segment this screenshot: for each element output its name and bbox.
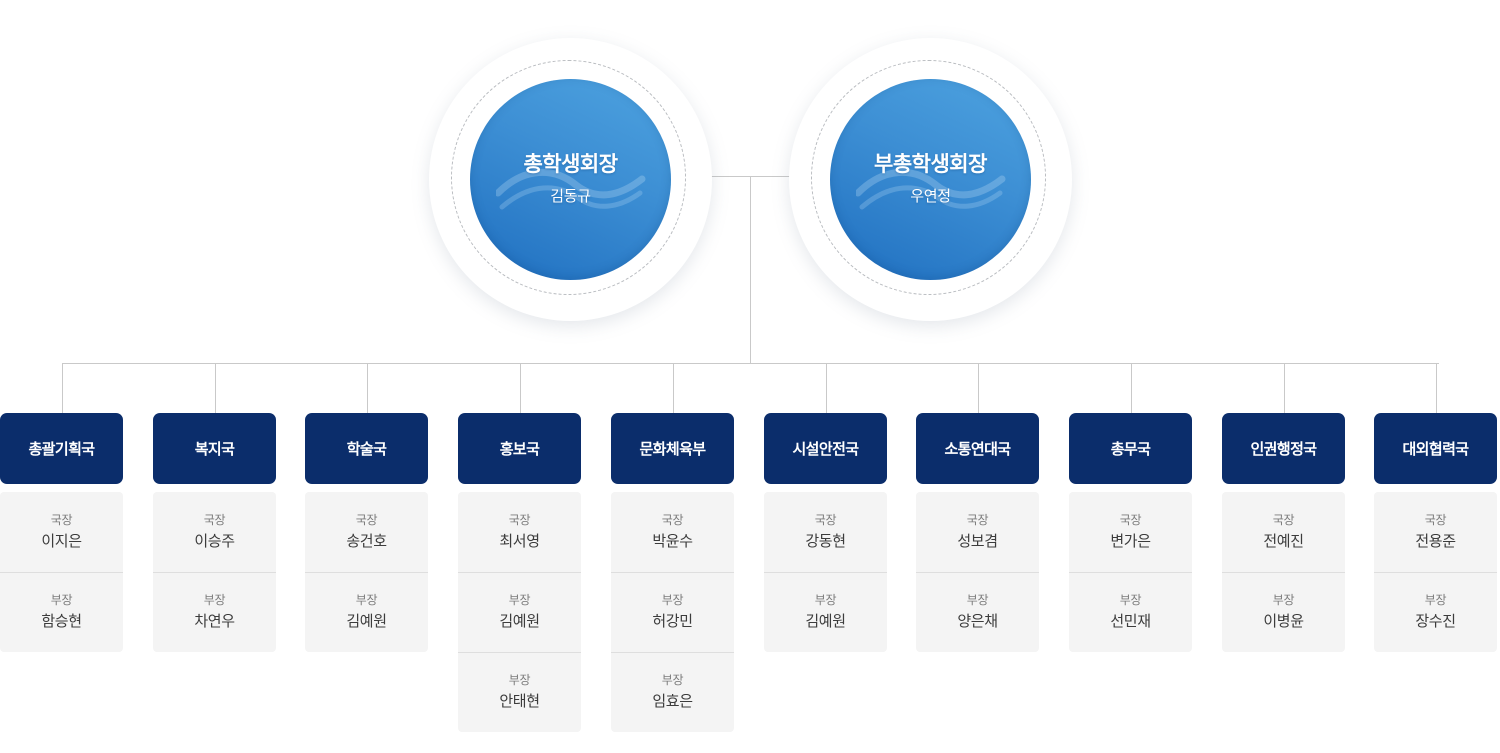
leader-name-label: 김동규 xyxy=(550,189,591,206)
department-member: 국장전용준 xyxy=(1374,492,1497,572)
member-role-label: 국장 xyxy=(51,514,72,527)
member-name-label: 강동현 xyxy=(805,534,845,551)
organization-chart: 총학생회장 김동규 부총학생회장 우연정 총괄기획국국장이지은부장함승현복지국국… xyxy=(0,0,1500,753)
department-header[interactable]: 문화체육부 xyxy=(611,413,734,484)
member-name-label: 김예원 xyxy=(346,614,386,631)
department-header[interactable]: 인권행정국 xyxy=(1222,413,1345,484)
department-member: 국장송건호 xyxy=(305,492,428,572)
department-header[interactable]: 소통연대국 xyxy=(916,413,1039,484)
connector-stub xyxy=(1436,363,1437,413)
connector-stub xyxy=(62,363,63,413)
member-role-label: 부장 xyxy=(662,594,683,607)
member-name-label: 변가은 xyxy=(1110,534,1150,551)
department-column: 소통연대국국장성보겸부장양은채 xyxy=(916,413,1039,652)
department-member: 부장이병윤 xyxy=(1222,572,1345,652)
member-role-label: 부장 xyxy=(356,594,377,607)
department-column: 문화체육부국장박윤수부장허강민부장임효은 xyxy=(611,413,734,732)
member-name-label: 이병윤 xyxy=(1263,614,1303,631)
leader-card-vice-president[interactable]: 부총학생회장 우연정 xyxy=(789,38,1072,321)
leader-card-president[interactable]: 총학생회장 김동규 xyxy=(429,38,712,321)
member-role-label: 부장 xyxy=(51,594,72,607)
department-column: 복지국국장이승주부장차연우 xyxy=(153,413,276,652)
connector-distribution-bus xyxy=(62,363,1439,364)
department-member: 부장김예원 xyxy=(305,572,428,652)
department-member-list: 국장변가은부장선민재 xyxy=(1069,492,1192,652)
member-name-label: 임효은 xyxy=(652,694,692,711)
member-name-label: 김예원 xyxy=(499,614,539,631)
department-member: 부장허강민 xyxy=(611,572,734,652)
member-role-label: 부장 xyxy=(967,594,988,607)
department-header[interactable]: 총무국 xyxy=(1069,413,1192,484)
member-name-label: 이승주 xyxy=(194,534,234,551)
department-member: 국장박윤수 xyxy=(611,492,734,572)
department-member: 부장임효은 xyxy=(611,652,734,732)
connector-stub xyxy=(978,363,979,413)
member-name-label: 김예원 xyxy=(805,614,845,631)
connector-stub xyxy=(215,363,216,413)
member-role-label: 국장 xyxy=(1425,514,1446,527)
member-role-label: 국장 xyxy=(1120,514,1141,527)
member-role-label: 부장 xyxy=(509,594,530,607)
department-member: 부장안태현 xyxy=(458,652,581,732)
department-member: 국장변가은 xyxy=(1069,492,1192,572)
department-member: 국장전예진 xyxy=(1222,492,1345,572)
department-member-list: 국장이지은부장함승현 xyxy=(0,492,123,652)
department-member-list: 국장박윤수부장허강민부장임효은 xyxy=(611,492,734,732)
member-name-label: 함승현 xyxy=(41,614,81,631)
department-header[interactable]: 총괄기획국 xyxy=(0,413,123,484)
department-member: 부장선민재 xyxy=(1069,572,1192,652)
member-role-label: 국장 xyxy=(967,514,988,527)
department-member: 부장김예원 xyxy=(764,572,887,652)
departments-row: 총괄기획국국장이지은부장함승현복지국국장이승주부장차연우학술국국장송건호부장김예… xyxy=(0,413,1500,753)
connector-stub xyxy=(367,363,368,413)
member-role-label: 국장 xyxy=(1273,514,1294,527)
member-name-label: 안태현 xyxy=(499,694,539,711)
department-header[interactable]: 복지국 xyxy=(153,413,276,484)
leader-name-label: 우연정 xyxy=(910,189,951,206)
leader-disc: 총학생회장 김동규 xyxy=(470,79,671,280)
member-role-label: 부장 xyxy=(204,594,225,607)
department-column: 대외협력국국장전용준부장장수진 xyxy=(1374,413,1497,652)
leaders-row: 총학생회장 김동규 부총학생회장 우연정 xyxy=(0,0,1500,300)
department-member: 국장최서영 xyxy=(458,492,581,572)
department-member-list: 국장성보겸부장양은채 xyxy=(916,492,1039,652)
member-role-label: 부장 xyxy=(1120,594,1141,607)
member-role-label: 부장 xyxy=(1425,594,1446,607)
member-name-label: 최서영 xyxy=(499,534,539,551)
member-name-label: 박윤수 xyxy=(652,534,692,551)
department-column: 학술국국장송건호부장김예원 xyxy=(305,413,428,652)
department-header[interactable]: 대외협력국 xyxy=(1374,413,1497,484)
department-header[interactable]: 시설안전국 xyxy=(764,413,887,484)
department-member: 부장차연우 xyxy=(153,572,276,652)
member-role-label: 국장 xyxy=(204,514,225,527)
department-member: 국장이승주 xyxy=(153,492,276,572)
department-member: 부장김예원 xyxy=(458,572,581,652)
member-name-label: 장수진 xyxy=(1415,614,1455,631)
member-role-label: 부장 xyxy=(662,674,683,687)
member-role-label: 국장 xyxy=(662,514,683,527)
connector-stub xyxy=(520,363,521,413)
leader-role-label: 부총학생회장 xyxy=(874,153,987,176)
leader-disc: 부총학생회장 우연정 xyxy=(830,79,1031,280)
connector-stub xyxy=(1284,363,1285,413)
member-name-label: 허강민 xyxy=(652,614,692,631)
member-role-label: 국장 xyxy=(815,514,836,527)
member-name-label: 이지은 xyxy=(41,534,81,551)
member-role-label: 부장 xyxy=(1273,594,1294,607)
department-header[interactable]: 홍보국 xyxy=(458,413,581,484)
department-member: 국장이지은 xyxy=(0,492,123,572)
connector-stub xyxy=(1131,363,1132,413)
member-role-label: 부장 xyxy=(815,594,836,607)
department-column: 인권행정국국장전예진부장이병윤 xyxy=(1222,413,1345,652)
connector-stub xyxy=(673,363,674,413)
department-member-list: 국장전예진부장이병윤 xyxy=(1222,492,1345,652)
connector-stub xyxy=(826,363,827,413)
department-member-list: 국장이승주부장차연우 xyxy=(153,492,276,652)
department-column: 총무국국장변가은부장선민재 xyxy=(1069,413,1192,652)
department-member: 국장강동현 xyxy=(764,492,887,572)
member-name-label: 차연우 xyxy=(194,614,234,631)
department-member-list: 국장최서영부장김예원부장안태현 xyxy=(458,492,581,732)
department-member: 부장함승현 xyxy=(0,572,123,652)
department-member-list: 국장송건호부장김예원 xyxy=(305,492,428,652)
department-member-list: 국장강동현부장김예원 xyxy=(764,492,887,652)
member-name-label: 전예진 xyxy=(1263,534,1303,551)
department-column: 홍보국국장최서영부장김예원부장안태현 xyxy=(458,413,581,732)
member-name-label: 성보겸 xyxy=(957,534,997,551)
member-name-label: 양은채 xyxy=(957,614,997,631)
member-name-label: 선민재 xyxy=(1110,614,1150,631)
department-header[interactable]: 학술국 xyxy=(305,413,428,484)
member-name-label: 전용준 xyxy=(1415,534,1455,551)
department-member-list: 국장전용준부장장수진 xyxy=(1374,492,1497,652)
leader-role-label: 총학생회장 xyxy=(523,153,617,176)
department-member: 국장성보겸 xyxy=(916,492,1039,572)
department-column: 시설안전국국장강동현부장김예원 xyxy=(764,413,887,652)
department-column: 총괄기획국국장이지은부장함승현 xyxy=(0,413,123,652)
member-name-label: 송건호 xyxy=(346,534,386,551)
member-role-label: 국장 xyxy=(509,514,530,527)
department-member: 부장장수진 xyxy=(1374,572,1497,652)
member-role-label: 부장 xyxy=(509,674,530,687)
department-member: 부장양은채 xyxy=(916,572,1039,652)
member-role-label: 국장 xyxy=(356,514,377,527)
